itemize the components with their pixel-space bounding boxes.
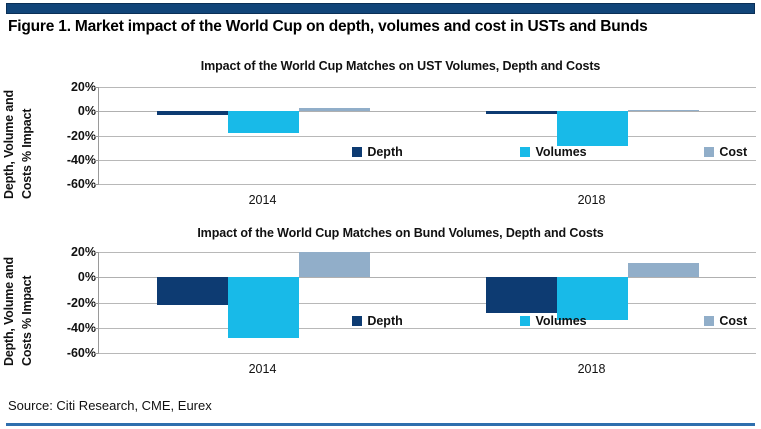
legend-item-depth[interactable]: Depth	[352, 145, 402, 159]
legend-swatch-cost-icon	[704, 316, 714, 326]
chart-ust-yaxis-title: Depth, Volume and Costs % Impact	[2, 81, 46, 199]
yaxis-title-line2: Costs % Impact	[20, 109, 34, 199]
bar-depth-2014	[157, 111, 228, 115]
top-accent-band	[6, 3, 755, 14]
ytick-label: 0%	[50, 104, 96, 118]
legend-swatch-volumes-icon	[520, 147, 530, 157]
chart-bund-ytick-labels: 20%0%-20%-40%-60%	[48, 222, 96, 390]
gridline	[99, 184, 756, 185]
bar-volumes-2014	[228, 111, 299, 133]
bar-depth-2018	[486, 277, 557, 312]
bar-cost-2018	[628, 263, 699, 277]
axis-tick	[94, 353, 99, 354]
chart-bund-xlabel-2018: 2018	[427, 362, 756, 376]
chart-ust-title: Impact of the World Cup Matches on UST V…	[0, 59, 761, 73]
gridline	[99, 252, 756, 253]
legend-item-cost[interactable]: Cost	[704, 314, 747, 328]
legend-item-depth[interactable]: Depth	[352, 314, 402, 328]
ytick-label: -60%	[50, 177, 96, 191]
bottom-rule	[6, 423, 755, 426]
chart-ust-xlabel-2018: 2018	[427, 193, 756, 207]
ytick-label: -20%	[50, 296, 96, 310]
chart-bund-plot-area: DepthVolumesCost	[98, 252, 756, 353]
ytick-label: 0%	[50, 270, 96, 284]
legend-label: Volumes	[535, 314, 586, 328]
chart-ust-plot-area: DepthVolumesCost	[98, 87, 756, 184]
chart-bund-legend: DepthVolumesCost	[352, 314, 747, 328]
gridline	[99, 160, 756, 161]
chart-bund-yaxis-title: Depth, Volume and Costs % Impact	[2, 248, 46, 366]
legend-label: Cost	[719, 314, 747, 328]
figure-container: Figure 1. Market impact of the World Cup…	[0, 0, 761, 429]
axis-tick	[94, 277, 99, 278]
bar-depth-2014	[157, 277, 228, 305]
chart-ust: Impact of the World Cup Matches on UST V…	[0, 55, 761, 220]
legend-swatch-depth-icon	[352, 316, 362, 326]
bar-volumes-2014	[228, 277, 299, 338]
axis-tick	[94, 252, 99, 253]
legend-swatch-volumes-icon	[520, 316, 530, 326]
axis-tick	[94, 136, 99, 137]
legend-swatch-depth-icon	[352, 147, 362, 157]
legend-label: Cost	[719, 145, 747, 159]
ytick-label: 20%	[50, 80, 96, 94]
axis-tick	[94, 160, 99, 161]
ytick-label: -40%	[50, 153, 96, 167]
legend-item-cost[interactable]: Cost	[704, 145, 747, 159]
legend-label: Depth	[367, 145, 402, 159]
source-note: Source: Citi Research, CME, Eurex	[8, 398, 212, 413]
legend-swatch-cost-icon	[704, 147, 714, 157]
chart-ust-ytick-labels: 20%0%-20%-40%-60%	[48, 55, 96, 220]
legend-item-volumes[interactable]: Volumes	[520, 314, 586, 328]
gridline	[99, 353, 756, 354]
axis-tick	[94, 328, 99, 329]
axis-tick	[94, 111, 99, 112]
chart-ust-xlabel-2014: 2014	[98, 193, 427, 207]
chart-bund-title: Impact of the World Cup Matches on Bund …	[0, 226, 761, 240]
page-title: Figure 1. Market impact of the World Cup…	[8, 18, 753, 36]
yaxis-title-line1: Depth, Volume and	[2, 90, 16, 199]
yaxis-title-line2: Costs % Impact	[20, 276, 34, 366]
chart-bund-xlabel-2014: 2014	[98, 362, 427, 376]
ytick-label: -60%	[50, 346, 96, 360]
axis-tick	[94, 303, 99, 304]
bar-cost-2018	[628, 110, 699, 111]
gridline	[99, 87, 756, 88]
legend-label: Depth	[367, 314, 402, 328]
gridline	[99, 136, 756, 137]
bar-cost-2014	[299, 252, 370, 277]
yaxis-title-line1: Depth, Volume and	[2, 257, 16, 366]
axis-tick	[94, 184, 99, 185]
legend-label: Volumes	[535, 145, 586, 159]
axis-tick	[94, 87, 99, 88]
chart-bund: Impact of the World Cup Matches on Bund …	[0, 222, 761, 390]
ytick-label: -20%	[50, 129, 96, 143]
ytick-label: 20%	[50, 245, 96, 259]
ytick-label: -40%	[50, 321, 96, 335]
chart-ust-legend: DepthVolumesCost	[352, 145, 747, 159]
bar-volumes-2018	[557, 111, 628, 146]
legend-item-volumes[interactable]: Volumes	[520, 145, 586, 159]
bar-depth-2018	[486, 111, 557, 113]
bar-cost-2014	[299, 108, 370, 112]
